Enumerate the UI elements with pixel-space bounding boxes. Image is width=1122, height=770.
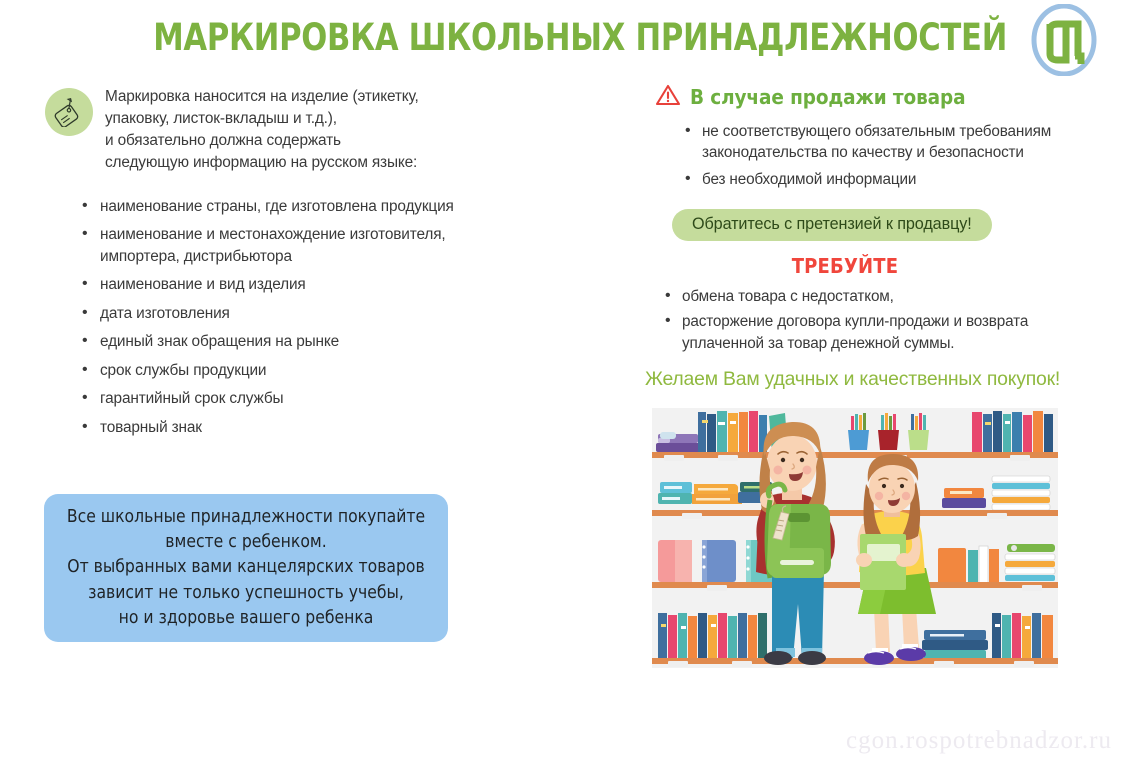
wish-line: Желаем Вам удачных и качественных покупо…	[645, 368, 1060, 391]
list-item: обмена товара с недостатком,	[665, 286, 1075, 308]
list-item: не соответствующего обязательным требова…	[685, 121, 1075, 164]
list-item: срок службы продукции	[82, 360, 472, 382]
warning-title: В случае продажи товара	[690, 85, 965, 109]
warning-triangle-icon	[655, 83, 681, 112]
list-item: дата изготовления	[82, 303, 472, 325]
list-item: наименование страны, где изготовлена про…	[82, 196, 472, 218]
list-item: товарный знак	[82, 417, 472, 439]
site-watermark: cgon.rospotrebnadzor.ru	[722, 727, 1112, 755]
intro-line: упаковку, листок-вкладыш и т.д.),	[105, 108, 472, 130]
shelf-row-1	[652, 411, 1058, 461]
mother-and-daughter-illustration	[652, 408, 1058, 668]
claim-to-seller-badge: Обратитесь с претензией к продавцу!	[672, 209, 992, 241]
intro-text: Маркировка наносится на изделие (этикетк…	[105, 86, 472, 174]
demands-list: обмена товара с недостатком, расторжение…	[665, 286, 1075, 354]
list-item: расторжение договора купли-продажи и воз…	[665, 311, 1075, 354]
left-column: Маркировка наносится на изделие (этикетк…	[42, 86, 472, 446]
list-item: наименование и местонахождение изготовит…	[82, 224, 472, 267]
marking-requirements-list: наименование страны, где изготовлена про…	[82, 196, 472, 439]
intro-line: следующую информацию на русском языке:	[105, 152, 472, 174]
advice-line: вместе с ребенком.	[165, 530, 326, 555]
list-item: без необходимой информации	[685, 169, 1075, 190]
demand-title: ТРЕБУЙТЕ	[655, 254, 1035, 278]
advice-line: зависит не только успешность учебы,	[88, 581, 404, 606]
right-column: В случае продажи товара не соответствующ…	[655, 82, 1075, 357]
advice-line: Все школьные принадлежности покупайте	[67, 505, 425, 530]
intro-line: и обязательно должна содержать	[105, 130, 472, 152]
intro-line: Маркировка наносится на изделие (этикетк…	[105, 86, 472, 108]
rospotrebnadzor-monogram-logo	[1028, 4, 1100, 76]
page-title: МАРКИРОВКА ШКОЛЬНЫХ ПРИНАДЛЕЖНОСТЕЙ	[153, 16, 963, 59]
advice-line: От выбранных вами канцелярских товаров	[67, 555, 424, 580]
shopping-advice-box: Все школьные принадлежности покупайте вм…	[44, 494, 448, 642]
list-item: единый знак обращения на рынке	[82, 331, 472, 353]
warning-heading: В случае продажи товара	[655, 82, 1075, 112]
sale-conditions-list: не соответствующего обязательным требова…	[685, 121, 1075, 190]
advice-line: но и здоровье вашего ребенка	[119, 606, 374, 631]
page-header: МАРКИРОВКА ШКОЛЬНЫХ ПРИНАДЛЕЖНОСТЕЙ	[0, 0, 1122, 78]
list-item: наименование и вид изделия	[82, 274, 472, 296]
list-item: гарантийный срок службы	[82, 388, 472, 410]
intro-block: Маркировка наносится на изделие (этикетк…	[42, 86, 472, 174]
price-tag-icon	[45, 88, 93, 136]
